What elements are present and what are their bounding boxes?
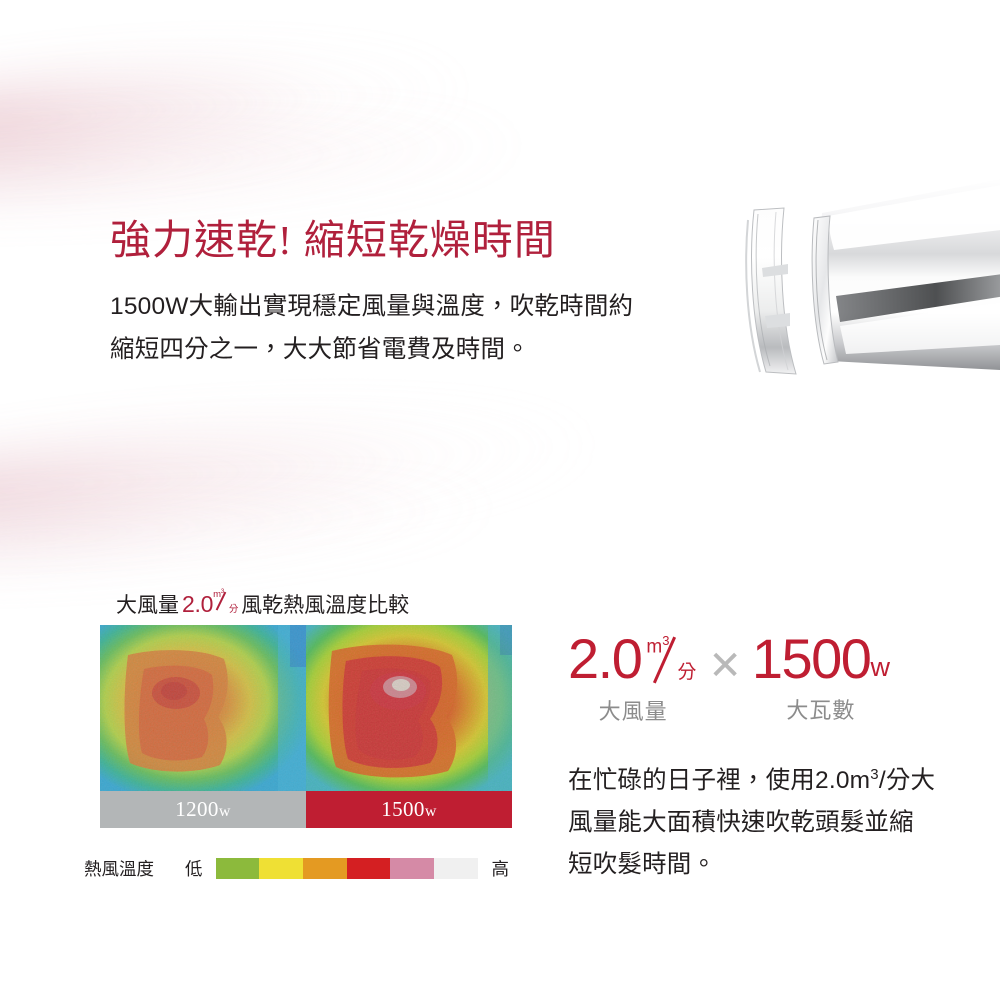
hero-description: 1500W大輸出實現穩定風量與溫度，吹乾時間約 縮短四分之一，大大節省電費及時間…: [110, 286, 760, 370]
product-feature-page: 強力速乾! 縮短乾燥時間 1500W大輸出實現穩定風量與溫度，吹乾時間約 縮短四…: [0, 0, 1000, 1000]
thermography-legend: 熱風溫度 低 高: [84, 856, 514, 881]
heatmap-1500w: [306, 625, 512, 791]
thermography-title-value-group: 2.0m3分: [182, 592, 238, 617]
legend-swatch-red: [347, 858, 391, 879]
specs-description-line-2: 風量能大面積快速吹乾頭髮並縮: [568, 802, 958, 844]
thermography-comparison: 大風量 2.0m3分 風乾熱風溫度比較: [100, 592, 512, 828]
spec-wattage-unit: w: [870, 654, 890, 687]
thermography-figure: 1200w 1500w: [100, 625, 512, 828]
spec-wattage: 1500 w 大瓦數: [752, 632, 890, 725]
legend-swatch-green: [216, 858, 260, 879]
legend-swatch-orange: [303, 858, 347, 879]
specs-description: 在忙碌的日子裡，使用2.0m3/分大 風量能大面積快速吹乾頭髮並縮 短吹髮時間。: [568, 760, 958, 886]
hero-section: 強力速乾! 縮短乾燥時間 1500W大輸出實現穩定風量與溫度，吹乾時間約 縮短四…: [110, 216, 760, 371]
multiply-icon: ✕: [698, 632, 752, 686]
thermography-title-suffix: 風乾熱風溫度比較: [241, 594, 409, 617]
hero-description-line-2: 縮短四分之一，大大節省電費及時間。: [110, 329, 760, 371]
airflow-streak-middle-1: [0, 400, 612, 545]
thermography-title: 大風量 2.0m3分 風乾熱風溫度比較: [116, 592, 512, 617]
spec-wattage-value: 1500: [752, 632, 871, 687]
power-label-bar-1200w: 1200w: [100, 791, 306, 828]
heatmap-1200w: [100, 625, 306, 791]
power-label-1500w: 1500w: [381, 797, 437, 822]
power-label-bar-1500w: 1500w: [306, 791, 512, 828]
thermography-title-prefix: 大風量: [116, 594, 179, 617]
airflow-streak-middle-2: [0, 478, 521, 575]
specs-description-line-1: 在忙碌的日子裡，使用2.0m3/分大: [568, 760, 958, 802]
legend-high-label: 高: [492, 856, 510, 881]
airflow-streak-upper-2: [0, 112, 541, 211]
spec-airflow-value: 2.0: [568, 632, 641, 687]
power-label-1200w: 1200w: [175, 797, 231, 822]
spec-wattage-caption: 大瓦數: [786, 693, 855, 725]
legend-swatch-pink: [390, 858, 434, 879]
spec-airflow-caption: 大風量: [599, 694, 668, 726]
thermography-title-value: 2.0: [182, 591, 213, 617]
spec-wattage-value-group: 1500 w: [752, 632, 890, 687]
specs-row: 2.0 m3 分 大風量 ✕ 1500 w 大瓦數: [568, 632, 958, 726]
specs-description-line-3: 短吹髮時間。: [568, 844, 958, 886]
cubic-meter-per-minute-icon: m3分: [213, 593, 237, 612]
airflow-streak-upper-1: [0, 47, 482, 170]
page-title: 強力速乾! 縮短乾燥時間: [110, 216, 760, 264]
spec-airflow: 2.0 m3 分 大風量: [568, 632, 698, 726]
spec-airflow-value-group: 2.0 m3 分: [568, 632, 698, 688]
legend-title: 熱風溫度: [84, 856, 154, 881]
hero-description-line-1: 1500W大輸出實現穩定風量與溫度，吹乾時間約: [110, 286, 760, 328]
spec-airflow-unit-denominator: 分: [677, 663, 696, 682]
legend-swatch-yellow: [259, 858, 303, 879]
legend-low-label: 低: [185, 856, 203, 881]
legend-colorscale: [216, 858, 478, 879]
hair-dryer-nozzle-photo: [718, 176, 1000, 381]
legend-swatch-white: [434, 858, 478, 879]
specs-panel: 2.0 m3 分 大風量 ✕ 1500 w 大瓦數 在忙碌的日: [568, 632, 958, 886]
cubic-meter-per-minute-icon-large: m3 分: [644, 632, 698, 688]
